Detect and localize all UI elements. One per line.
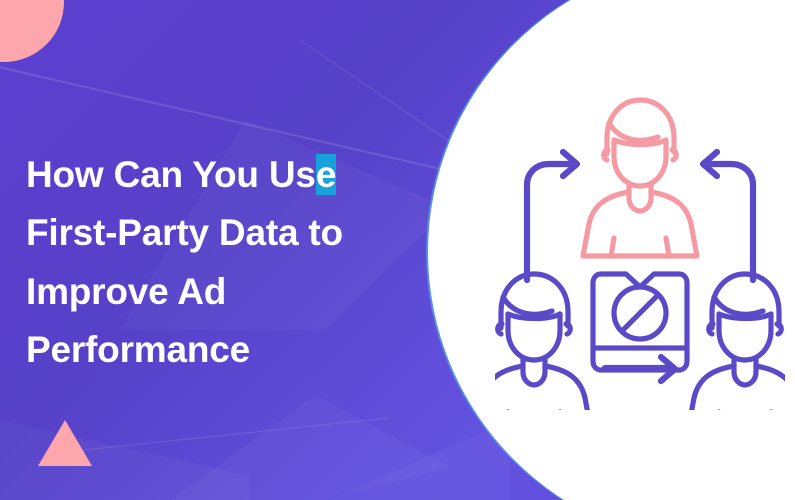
headline-line-3: Improve Ad <box>26 271 226 312</box>
headline-line-2: First-Party Data to <box>26 212 343 253</box>
blog-banner: How Can You UseFirst-Party Data toImprov… <box>0 0 795 500</box>
light-streak-3 <box>60 418 388 454</box>
person-bottom-left-icon <box>495 274 591 410</box>
background-polygon-2 <box>150 395 450 500</box>
arrow-left-curved-up-icon <box>527 152 577 280</box>
headline-line-4: Performance <box>26 329 250 370</box>
background-polygon-4 <box>250 420 510 500</box>
page-title: How Can You UseFirst-Party Data toImprov… <box>26 146 441 380</box>
person-bottom-right-icon <box>688 274 785 410</box>
arrow-right-curved-up-icon <box>703 152 753 280</box>
headline-selected-char: e <box>316 154 336 195</box>
audience-flow-illustration <box>495 80 785 410</box>
pink-corner-circle <box>0 0 64 62</box>
smartphone-blocked-icon <box>593 274 687 370</box>
arrow-bottom-straight-icon <box>605 357 675 381</box>
headline-line-1-text: How Can You Us <box>26 154 316 195</box>
person-top-icon <box>583 100 697 256</box>
pink-corner-triangle <box>38 420 92 466</box>
